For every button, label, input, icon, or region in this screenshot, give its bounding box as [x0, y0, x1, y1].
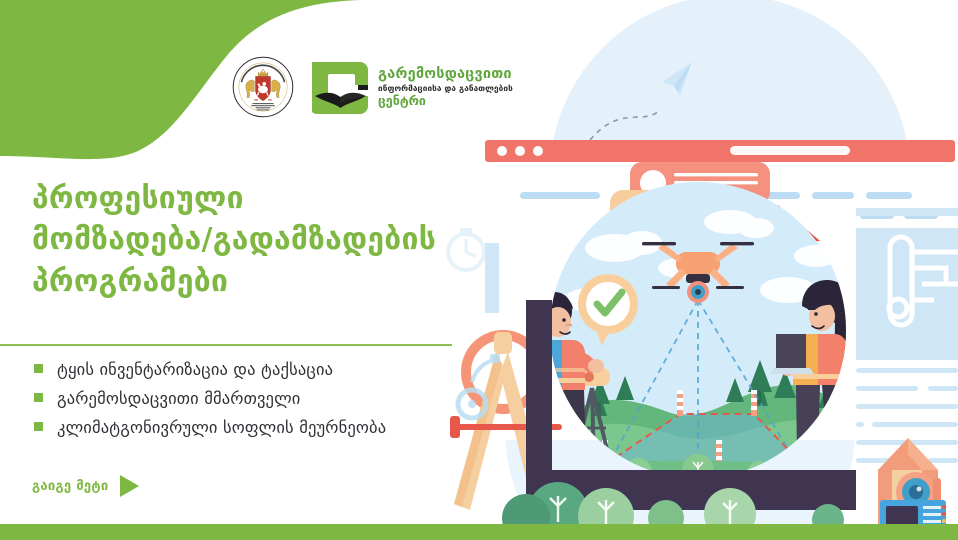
stopwatch-icon	[448, 228, 484, 270]
program-list: ტყის ინვენტარიზაცია და ტაქსაცია გარემოსდ…	[34, 360, 494, 447]
blueprint-panel	[856, 228, 958, 360]
camera-device-icon	[878, 438, 946, 534]
title-divider	[0, 344, 452, 346]
window-dot-1	[497, 146, 507, 156]
bullet-square-icon	[34, 364, 43, 373]
list-item-label: ტყის ინვენტარიზაცია და ტაქსაცია	[57, 360, 333, 379]
slide-canvas: გარემოსდაცვითი ინფორმაციისა და განათლები…	[0, 0, 958, 540]
window-dot-2	[515, 146, 525, 156]
list-item: გარემოსდაცვითი მმართველი	[34, 389, 494, 408]
bullet-square-icon	[34, 422, 43, 431]
browser-side-accent	[485, 243, 499, 313]
play-triangle-icon	[120, 475, 139, 497]
eiec-logo-mark-icon	[312, 59, 370, 115]
learn-more-label: გაიგე მეტი	[32, 479, 108, 494]
bullet-square-icon	[34, 393, 43, 402]
right-document-panel	[856, 208, 958, 534]
list-item: კლიმატგონივრული სოფლის მეურნეობა	[34, 418, 494, 437]
window-dot-3	[533, 146, 543, 156]
list-item-label: გარემოსდაცვითი მმართველი	[57, 389, 301, 408]
surveying-illustration	[430, 0, 958, 540]
bottom-green-bar	[0, 524, 958, 540]
learn-more-button[interactable]: გაიგე მეტი	[32, 475, 139, 497]
georgian-state-emblem-icon	[232, 56, 294, 118]
list-item: ტყის ინვენტარიზაცია და ტაქსაცია	[34, 360, 494, 379]
list-item-label: კლიმატგონივრული სოფლის მეურნეობა	[57, 418, 386, 437]
